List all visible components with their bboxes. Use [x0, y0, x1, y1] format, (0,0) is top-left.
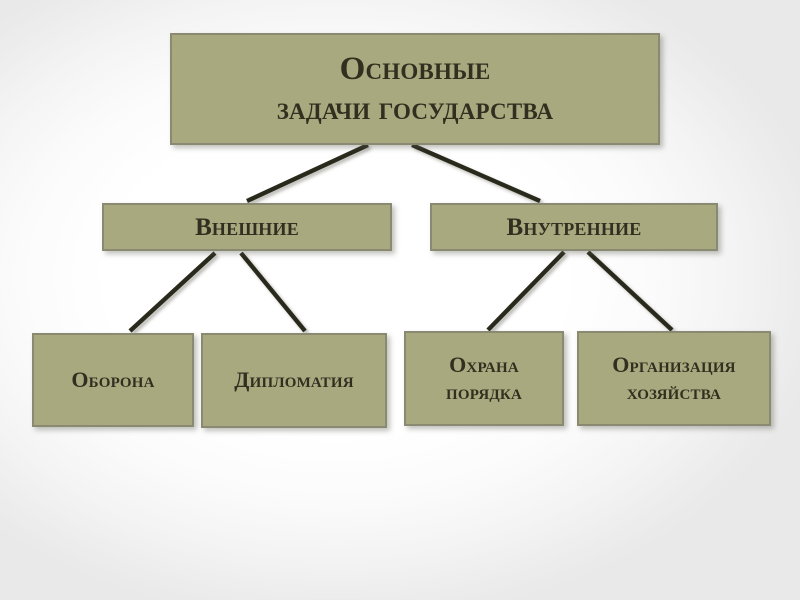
node-internal-tasks: Внутренние [430, 203, 718, 251]
connector-internal-to-order [488, 252, 564, 330]
connector-root-to-external [247, 145, 368, 201]
slide-canvas: Основные задачи государства Внешние Внут… [0, 0, 800, 600]
node-external-tasks: Внешние [102, 203, 392, 251]
node-external-label: Внешние [189, 213, 305, 242]
node-defense-label: Оборона [65, 367, 160, 393]
node-defense: Оборона [32, 333, 194, 427]
node-root-main-tasks: Основные задачи государства [170, 33, 660, 145]
node-economy-organization: Организация хозяйства [577, 331, 771, 426]
node-diplomacy: Дипломатия [201, 333, 387, 428]
node-root-label: Основные задачи государства [271, 49, 560, 130]
connector-external-to-diplomacy [241, 253, 305, 331]
node-law-enforcement: Охрана порядка [404, 331, 564, 426]
connector-external-to-defense [130, 253, 215, 331]
node-economy-organization-label: Организация хозяйства [606, 352, 741, 405]
connector-internal-to-economy [588, 252, 672, 330]
node-law-enforcement-label: Охрана порядка [440, 352, 528, 405]
node-diplomacy-label: Дипломатия [228, 367, 360, 393]
node-internal-label: Внутренние [501, 213, 648, 242]
connector-root-to-internal [412, 145, 540, 201]
